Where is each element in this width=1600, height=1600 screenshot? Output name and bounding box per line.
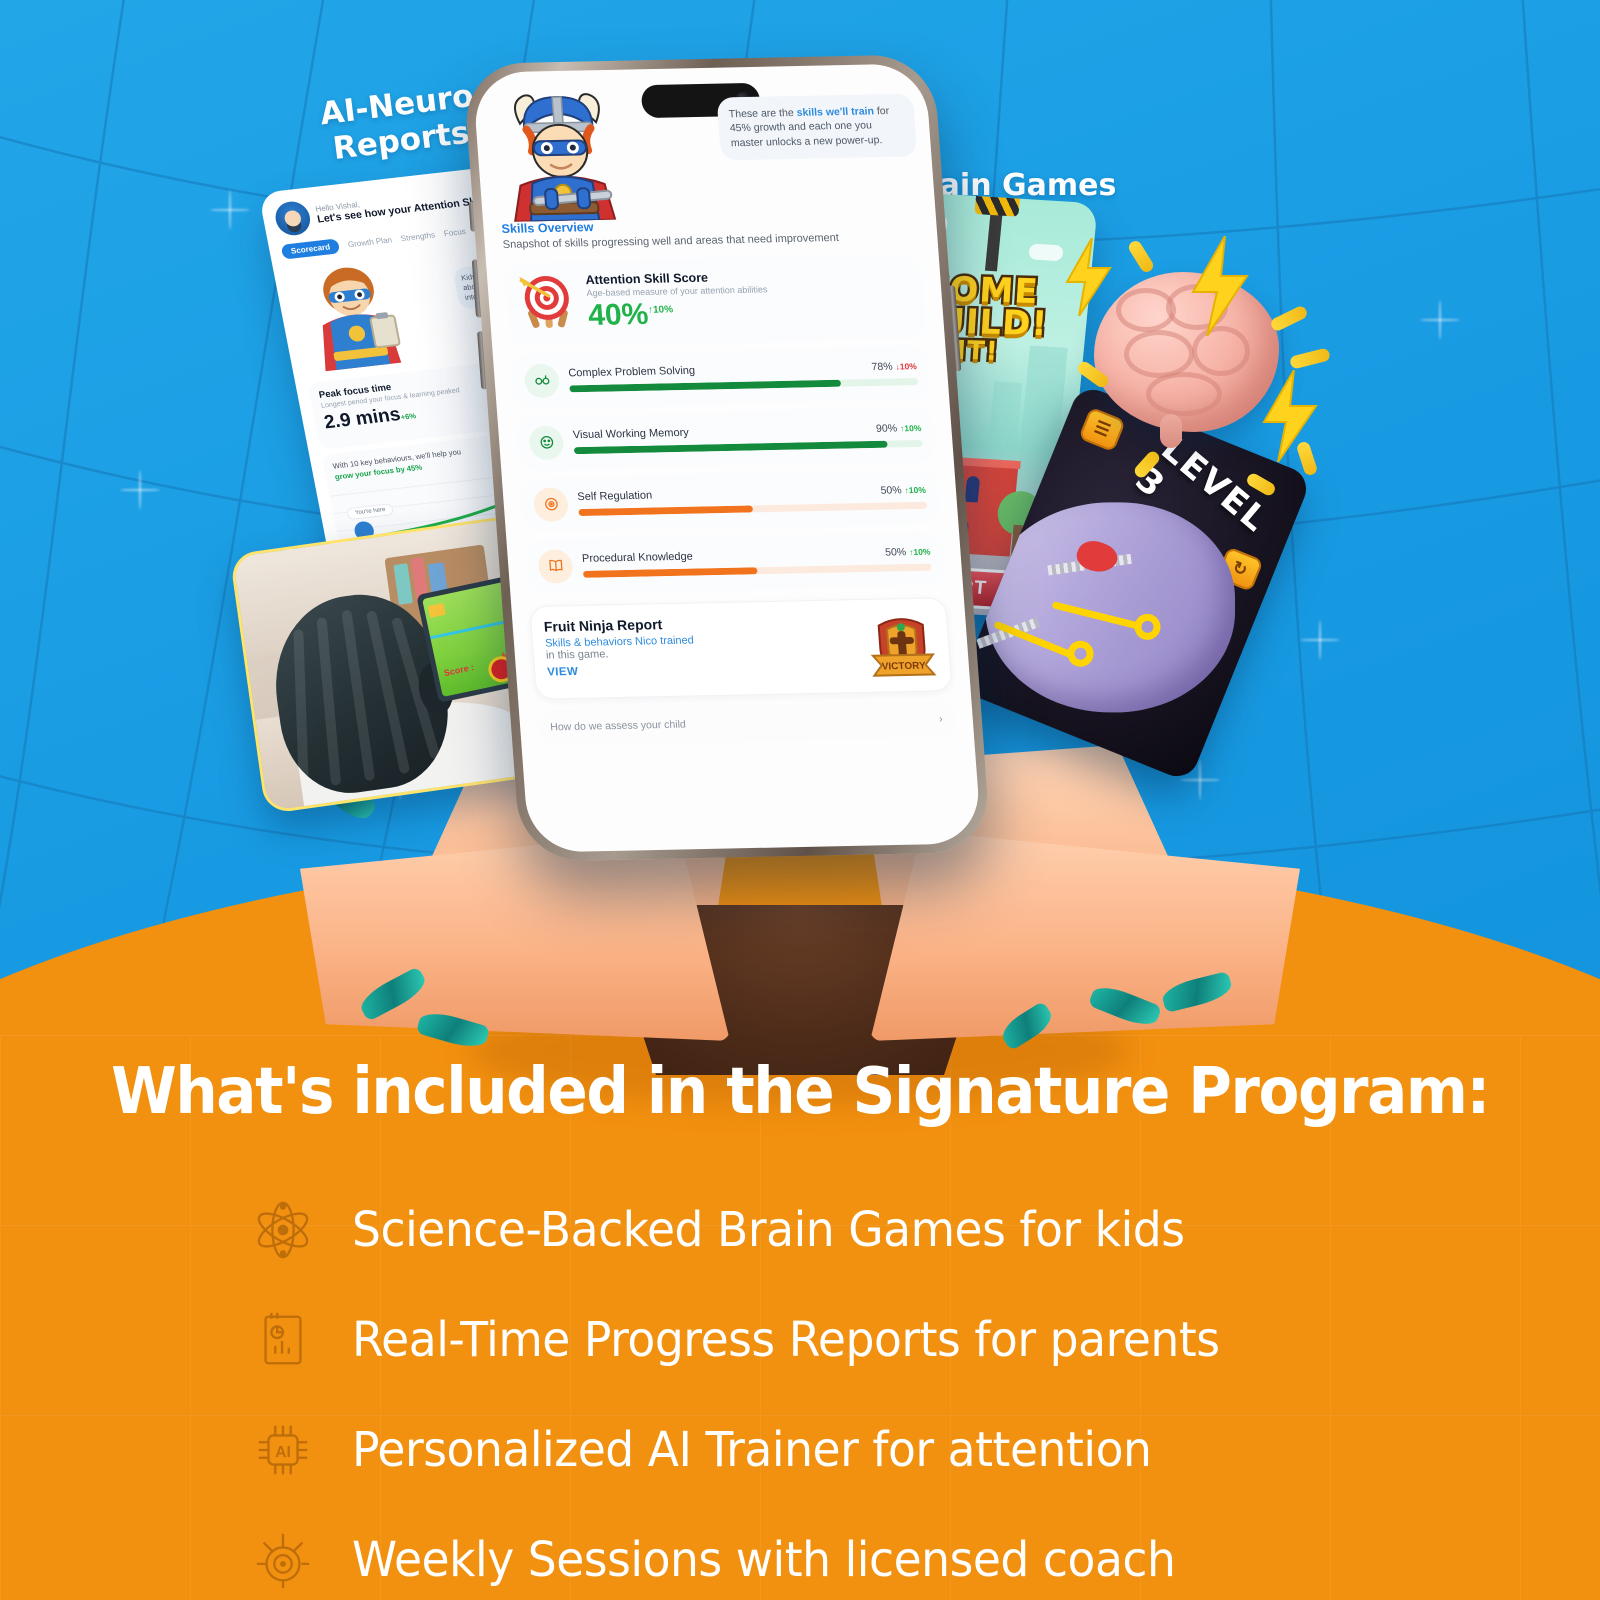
gift-box-flap-right	[870, 831, 1300, 1041]
skill-progress-bar	[578, 502, 927, 516]
skill-name: Procedural Knowledge	[582, 551, 694, 565]
feature-item: Science-Backed Brain Games for kids	[250, 1175, 1430, 1285]
viking-mascot-illustration	[495, 88, 625, 222]
glasses-icon	[524, 364, 561, 399]
skill-row[interactable]: Complex Problem Solving78% ↓10%	[511, 346, 931, 409]
attention-value: 40%	[587, 298, 650, 332]
smiley-icon	[528, 425, 565, 460]
skill-name: Complex Problem Solving	[568, 365, 696, 380]
feature-list: Science-Backed Brain Games for kidsReal-…	[250, 1175, 1430, 1600]
feature-label: Real-Time Progress Reports for parents	[352, 1312, 1220, 1368]
page-title: What's included in the Signature Program…	[56, 1055, 1544, 1129]
attention-delta: ↑10%	[648, 304, 674, 315]
attention-value-wrap: 40%↑10%	[587, 297, 770, 331]
game-score-label: Score :	[443, 662, 475, 678]
bubble-link[interactable]: skills we'll train	[796, 105, 874, 119]
attention-skill-score-card: Attention Skill Score Age-based measure …	[504, 254, 927, 346]
phone-screen[interactable]: These are the skills we'll train for 45%…	[472, 63, 982, 852]
rocket-shape	[985, 502, 1235, 712]
ninja-view-link[interactable]: VIEW	[547, 660, 862, 679]
superhero-kid-illustration	[290, 259, 419, 381]
phone-mockup[interactable]: These are the skills we'll train for 45%…	[462, 54, 991, 862]
fruit-ninja-report-card[interactable]: Fruit Ninja Report Skills & behaviors Ni…	[529, 597, 952, 699]
skill-progress-bar	[583, 564, 932, 578]
eye-target-icon	[533, 487, 570, 522]
skill-value: 78% ↓10%	[871, 360, 917, 373]
skill-value: 50% ↑10%	[880, 484, 926, 497]
target-crosshair-icon	[250, 1527, 316, 1593]
skill-name: Self Regulation	[577, 490, 653, 504]
lightning-bolt-icon	[1062, 238, 1114, 316]
book-icon	[537, 549, 574, 584]
feature-label: Science-Backed Brain Games for kids	[352, 1202, 1185, 1258]
skill-row[interactable]: Visual Working Memory90% ↑10%	[515, 408, 935, 471]
atom-icon	[250, 1197, 316, 1263]
skill-list: Complex Problem Solving78% ↓10%Visual Wo…	[493, 345, 963, 594]
skill-progress-bar	[574, 440, 923, 454]
assess-label: How do we assess your child	[550, 718, 686, 733]
skill-delta: ↑10%	[909, 547, 931, 557]
badge-text: VICTORY	[881, 660, 926, 672]
feature-label: Personalized AI Trainer for attention	[352, 1422, 1151, 1478]
bubble-pre: These are the	[728, 107, 797, 120]
skill-delta: ↑10%	[904, 485, 926, 495]
tab-scorecard[interactable]: Scorecard	[281, 238, 341, 259]
skill-row[interactable]: Self Regulation50% ↑10%	[520, 469, 940, 532]
phone-intro-bubble: These are the skills we'll train for 45%…	[717, 94, 918, 161]
assess-row[interactable]: How do we assess your child ›	[537, 701, 956, 746]
lightning-bolt-icon	[1258, 370, 1322, 462]
victory-badge-icon: VICTORY	[866, 610, 939, 679]
lightning-bolt-icon	[1185, 236, 1255, 336]
tab-growth-plan[interactable]: Growth Plan	[347, 235, 393, 249]
target-icon	[517, 273, 577, 330]
skill-value: 50% ↑10%	[885, 546, 931, 559]
skill-delta: ↓10%	[895, 361, 917, 371]
feature-item: Weekly Sessions with licensed coach	[250, 1505, 1430, 1600]
skill-value: 90% ↑10%	[876, 422, 922, 435]
menu-button[interactable]: ☰	[1078, 407, 1126, 453]
skill-row[interactable]: Procedural Knowledge50% ↑10%	[524, 531, 944, 594]
ai-chip-icon: AI	[250, 1417, 316, 1483]
skill-name: Visual Working Memory	[573, 427, 690, 441]
report-chart-icon	[250, 1307, 316, 1373]
phone-hero: These are the skills we'll train for 45%…	[472, 63, 936, 222]
skill-delta: ↑10%	[900, 423, 922, 433]
promo-graphic: AI-Neuro Reports Brain Games Expert Live…	[0, 0, 1600, 1600]
feature-item: Real-Time Progress Reports for parents	[250, 1285, 1430, 1395]
tab-focus[interactable]: Focus	[443, 227, 466, 238]
avatar	[273, 200, 313, 237]
tab-strengths[interactable]: Strengths	[400, 230, 436, 243]
feature-label: Weekly Sessions with licensed coach	[352, 1532, 1175, 1588]
feature-item: AIPersonalized AI Trainer for attention	[250, 1395, 1430, 1505]
chevron-right-icon[interactable]: ›	[939, 713, 943, 725]
skill-progress-bar	[569, 378, 918, 392]
svg-text:AI: AI	[275, 1444, 291, 1461]
